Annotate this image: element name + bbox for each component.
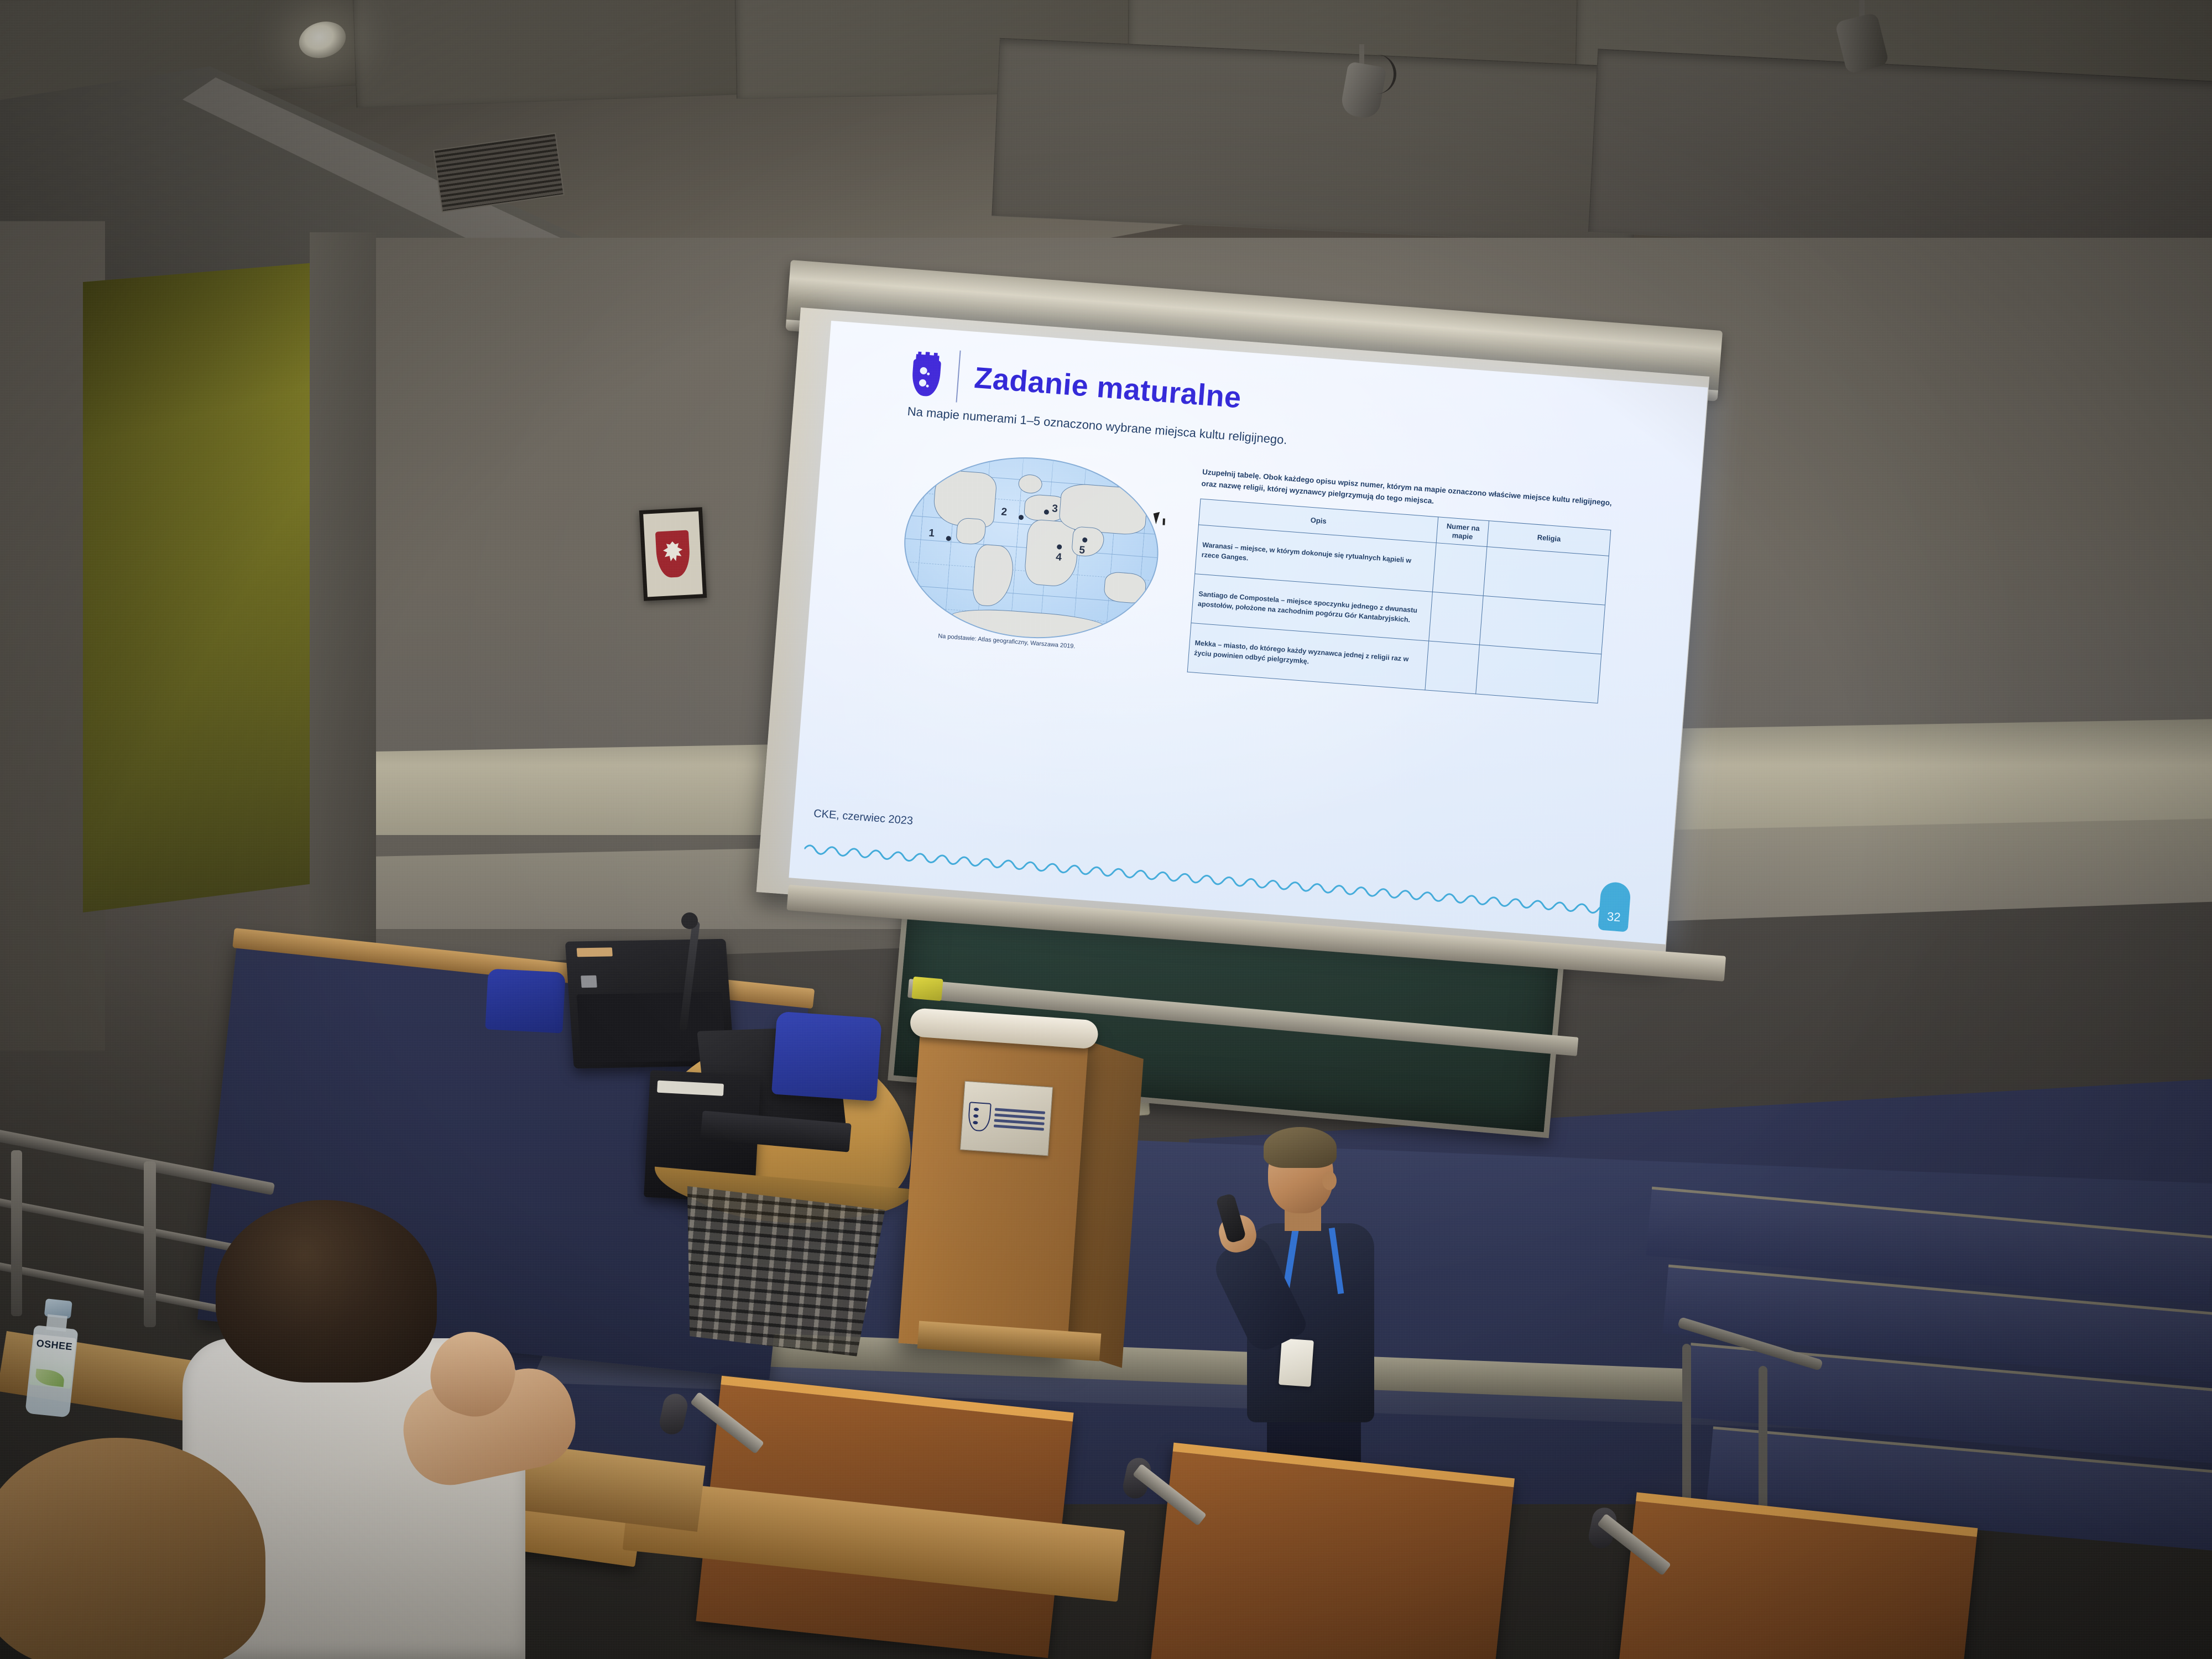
slide-footer: CKE, czerwiec 2023 [813,807,913,828]
name-badge [1279,1338,1314,1387]
ceiling-panel [992,38,1641,245]
ceiling-panel [352,0,778,108]
lecture-seat[interactable] [1151,1443,1515,1659]
ceiling-spotlight-icon [1344,44,1388,122]
framed-coat-of-arms [639,507,707,601]
cell-religia[interactable] [1483,547,1609,605]
lectern-plaque [960,1081,1053,1156]
world-map-figure: 1 2 3 4 5 [891,446,1170,648]
presentation-slide: Zadanie maturalne Na mapie numerami 1–5 … [789,321,1708,945]
crest-icon [967,1102,992,1132]
task-panel: Uzupełnij tabelę. Obok każdego opisu wpi… [1187,467,1622,705]
student-hair [216,1200,437,1383]
cell-numer[interactable] [1425,641,1479,695]
accent-wall-shading [83,260,348,912]
cell-numer[interactable] [1429,592,1483,645]
presenter-ear [1322,1171,1337,1190]
eagle-icon [661,541,685,567]
lectern[interactable] [899,1023,1089,1355]
ceiling-panel [1588,49,2212,267]
ceiling-spotlight-icon [1830,0,1897,83]
answer-table: Opis Numer na mapie Religia Waranasi – m… [1187,498,1611,703]
microphone-head-icon [681,912,698,929]
chair-blue[interactable] [771,1011,882,1102]
lecture-hall-photo: Zadanie maturalne Na mapie numerami 1–5 … [0,0,2212,1659]
chair-blue[interactable] [485,968,566,1033]
slide-page-number: 32 [1598,881,1631,932]
university-crest-icon [909,349,944,398]
chalk-sponge[interactable] [911,977,943,1001]
cell-religia[interactable] [1476,645,1601,703]
header-divider [956,351,961,403]
wall-pillar [310,232,376,979]
stair-handrail[interactable] [1676,1338,1825,1504]
col-header-numer: Numer na mapie [1437,517,1489,547]
cell-numer[interactable] [1433,543,1487,596]
globe-graphic: 1 2 3 4 5 [898,448,1165,648]
cell-religia[interactable] [1480,596,1605,654]
slide-title: Zadanie maturalne [973,361,1243,415]
presenter-person [1225,1123,1391,1499]
presenter-hair [1264,1127,1337,1168]
plaque-text-lines [994,1108,1045,1131]
bottle-brand-text: OSHEE [36,1338,73,1353]
